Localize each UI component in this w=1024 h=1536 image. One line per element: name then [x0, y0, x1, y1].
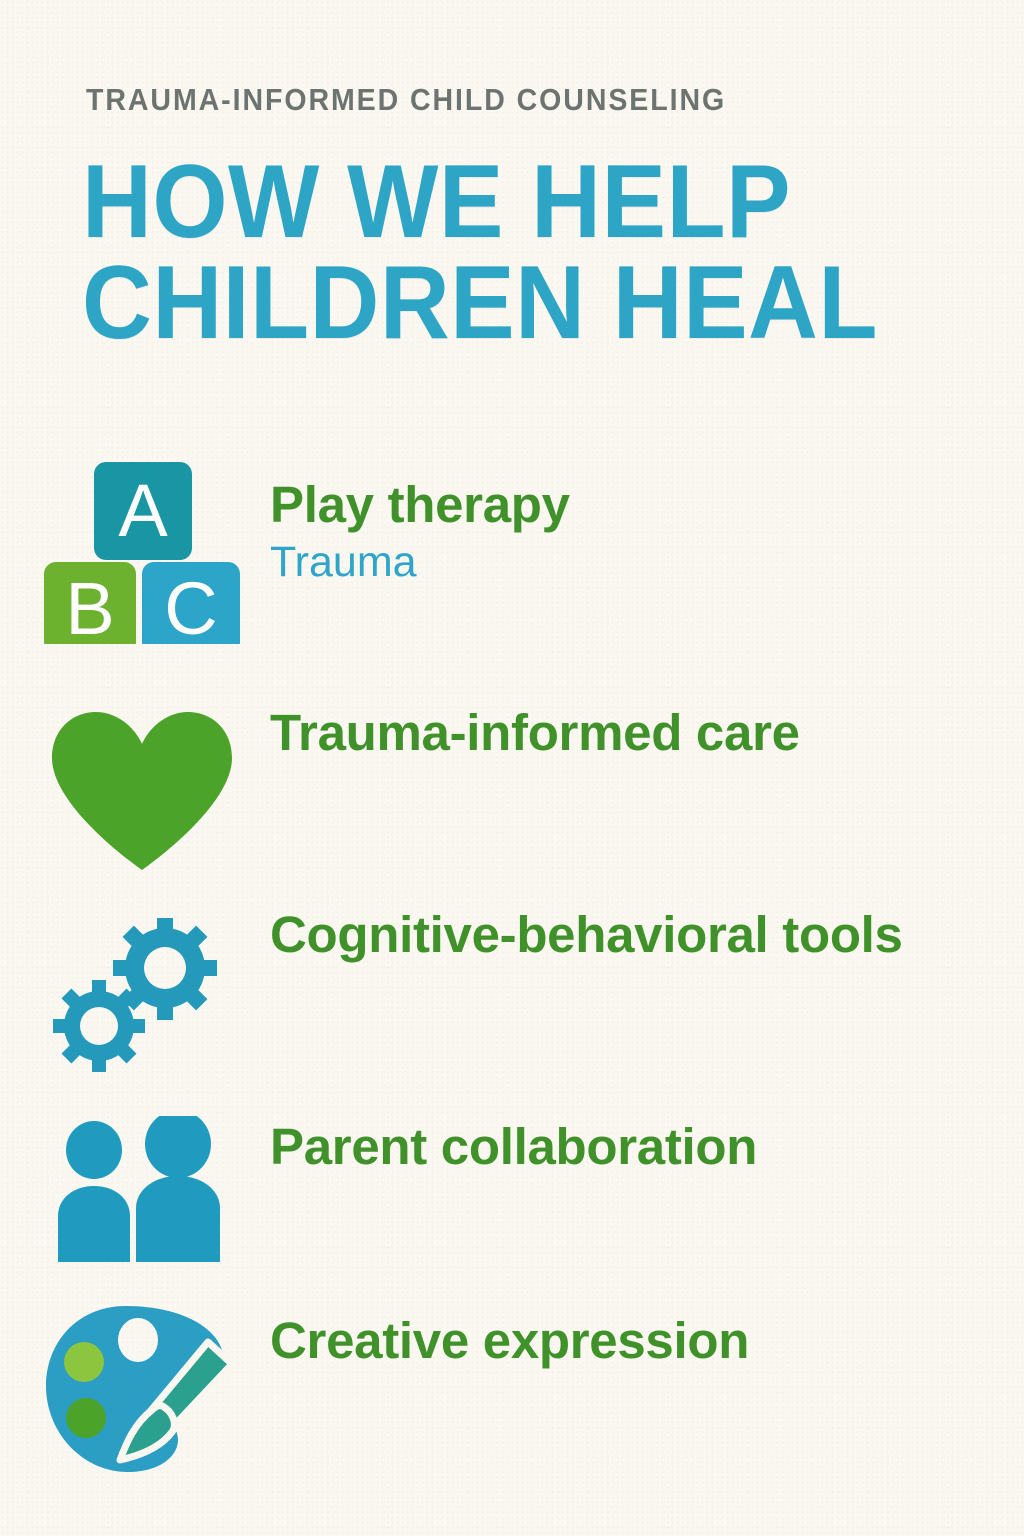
list-item-title: Play therapy: [270, 476, 984, 534]
list-item: Creative expression: [0, 1298, 1024, 1488]
block-letter-a: A: [118, 469, 168, 552]
paint-palette-icon: [0, 1298, 270, 1477]
list-item: A B C Play therapy Trauma: [0, 448, 1024, 696]
abc-blocks-icon: A B C: [0, 448, 270, 644]
two-people-icon: [0, 1106, 270, 1266]
block-letter-c: C: [164, 567, 217, 644]
list-item-subtitle: Trauma: [270, 538, 984, 587]
list-item-title: Trauma-informed care: [270, 704, 984, 762]
list-item-text: Creative expression: [270, 1298, 1024, 1370]
heart-icon: [0, 696, 270, 872]
list-item-text: Parent collaboration: [270, 1106, 1024, 1176]
block-letter-b: B: [65, 567, 114, 644]
list-item-title: Creative expression: [270, 1312, 984, 1370]
palette-dot-light-green: [64, 1342, 104, 1382]
gears-icon: [0, 906, 270, 1078]
eyebrow-kicker: TRAUMA-INFORMED CHILD COUNSELING: [86, 82, 726, 118]
list-item: Parent collaboration: [0, 1106, 1024, 1298]
palette-dot-green: [66, 1398, 106, 1438]
list-item-title: Cognitive-behavioral tools: [270, 906, 984, 964]
benefits-list: A B C Play therapy Trauma Trauma-informe…: [0, 448, 1024, 1488]
list-item-text: Trauma-informed care: [270, 696, 1024, 762]
list-item: Cognitive-behavioral tools: [0, 906, 1024, 1106]
list-item-text: Cognitive-behavioral tools: [270, 906, 1024, 964]
list-item: Trauma-informed care: [0, 696, 1024, 906]
list-item-title: Parent collaboration: [270, 1118, 984, 1176]
page-title-line-2: CHILDREN HEAL: [82, 253, 900, 354]
page-title-line-1: HOW WE HELP: [82, 152, 900, 253]
infographic-poster: TRAUMA-INFORMED CHILD COUNSELING HOW WE …: [0, 0, 1024, 1536]
list-item-text: Play therapy Trauma: [270, 448, 1024, 587]
page-title: HOW WE HELP CHILDREN HEAL: [82, 152, 900, 354]
